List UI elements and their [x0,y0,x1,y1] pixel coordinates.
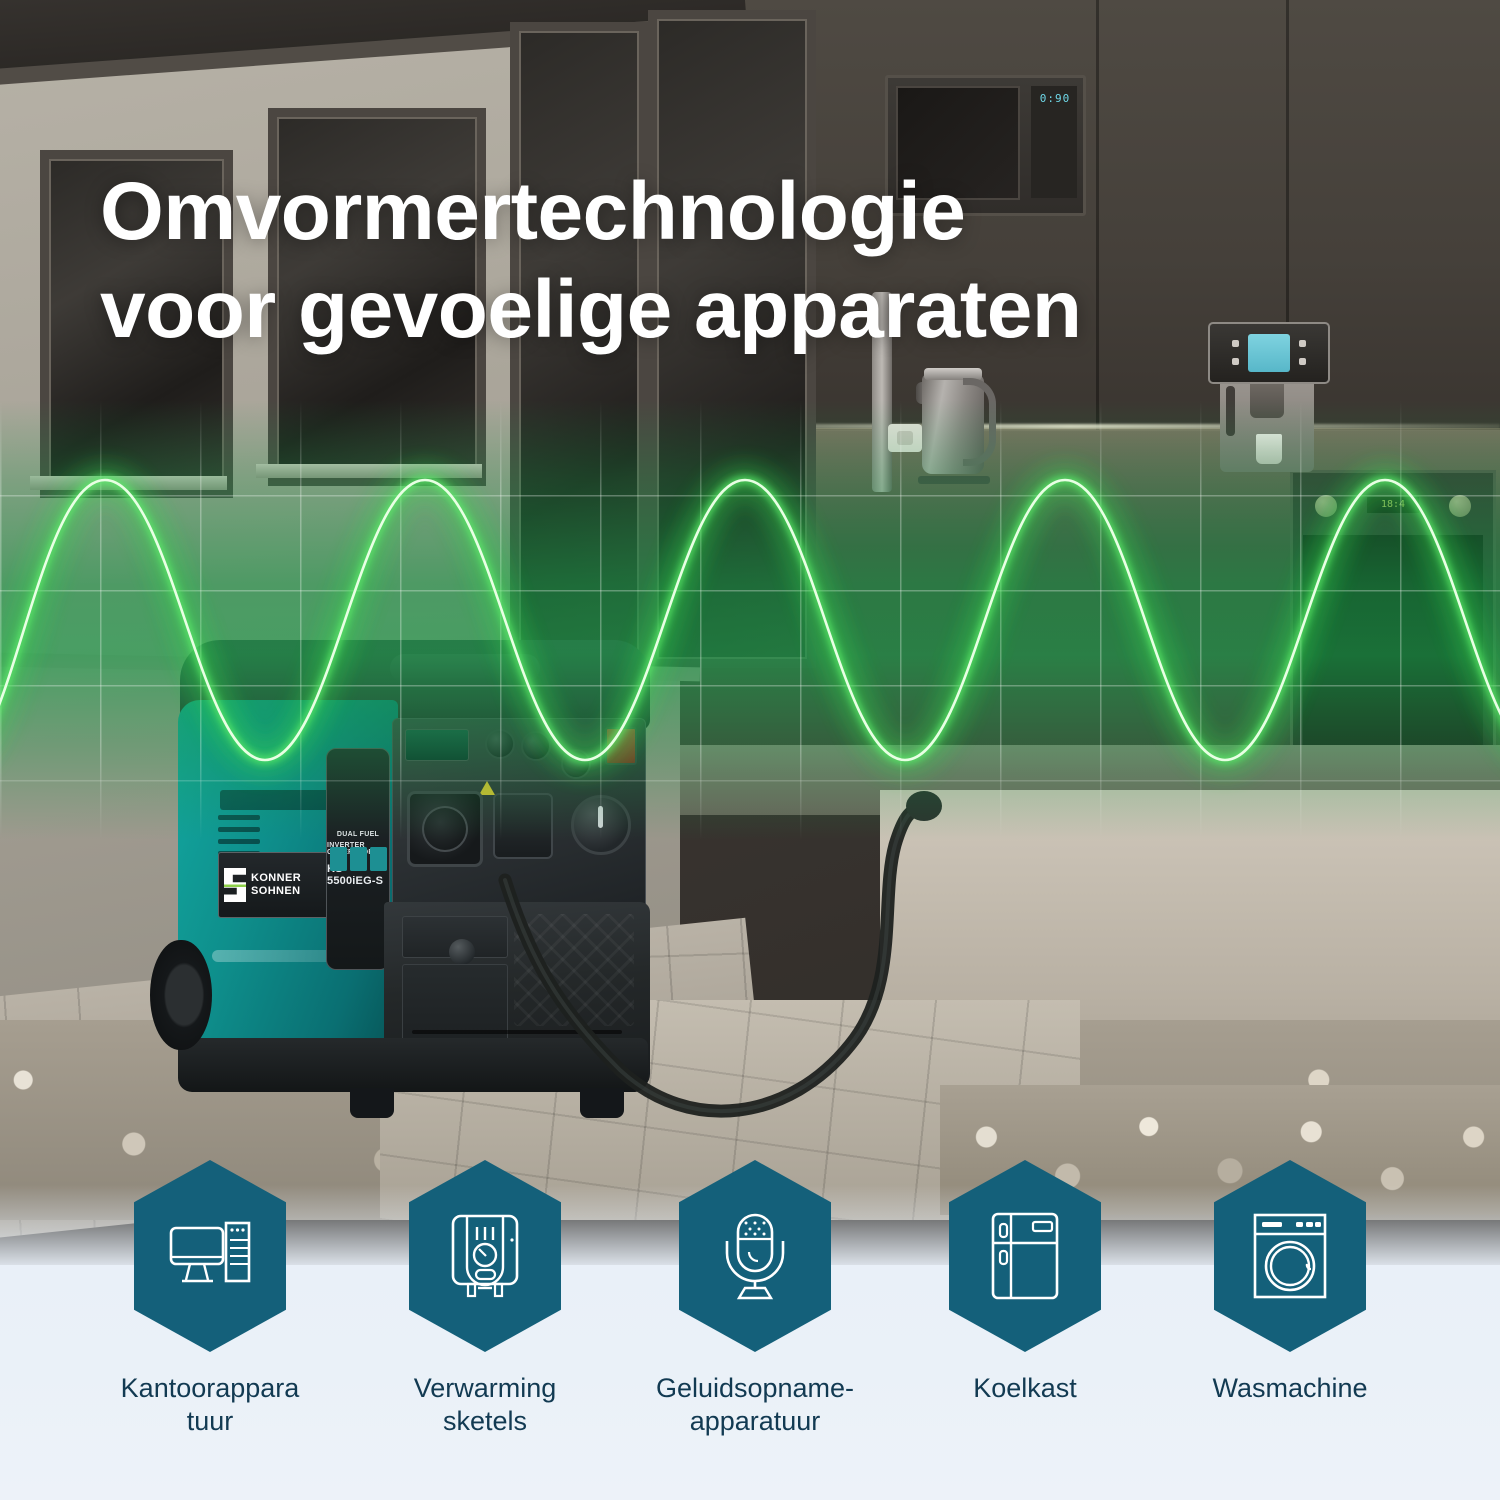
appliance-item-office-equipment[interactable]: Kantoorapparatuur [75,1160,345,1500]
hex-badge [1214,1160,1366,1352]
generator-brand-text: KONNER SOHNEN [251,872,301,898]
appliance-label: Kantoorapparatuur [75,1372,345,1438]
appliance-hex-row: Kantoorapparatuur [0,1160,1500,1500]
headline-line-1: Omvormertechnologie [100,166,965,257]
water-heater-boiler-icon [448,1213,522,1299]
generator-access-hatch [402,916,508,958]
feature-badge [350,847,367,871]
appliance-label: Verwarmingsketels [350,1372,620,1438]
pure-sine-wave-graph [0,400,1500,840]
appliance-label: Koelkast [890,1372,1160,1405]
washing-machine-icon [1251,1212,1329,1300]
appliance-item-refrigerator[interactable]: Koelkast [890,1160,1160,1500]
microwave-display: 0:90 [1037,92,1073,106]
generator-fuel-cap [449,939,475,965]
appliance-label: Geluidsopname-apparatuur [620,1372,890,1438]
feature-badge [370,847,387,871]
ks-logo-mark [224,868,246,902]
appliance-item-sound-recording[interactable]: Geluidsopname-apparatuur [620,1160,890,1500]
generator-wheel [150,940,212,1050]
hex-badge [134,1160,286,1352]
generator-foot [580,1088,624,1118]
feature-badge [330,847,347,871]
hex-badge [409,1160,561,1352]
generator-foot [350,1088,394,1118]
headline-line-2: voor gevoelige apparaten [100,261,1400,359]
appliance-item-washing-machine[interactable]: Wasmachine [1155,1160,1425,1500]
brand-line-2: SOHNEN [251,885,300,897]
refrigerator-icon [989,1211,1061,1301]
appliance-item-heating-boiler[interactable]: Verwarmingsketels [350,1160,620,1500]
appliance-label: Wasmachine [1155,1372,1425,1405]
brand-line-1: KONNER [251,872,301,884]
desktop-computer-icon [168,1220,252,1292]
promo-banner: 0:90 18:4 [0,0,1500,1500]
hex-badge [949,1160,1101,1352]
generator-base [178,1038,648,1092]
page-title: Omvormertechnologie voor gevoelige appar… [100,163,1400,360]
generator-tread-texture [514,914,634,1026]
sine-wave-overlay [0,400,1500,840]
hex-badge [679,1160,831,1352]
microphone-icon [715,1212,795,1300]
generator-feature-badges-bottom [330,847,387,871]
